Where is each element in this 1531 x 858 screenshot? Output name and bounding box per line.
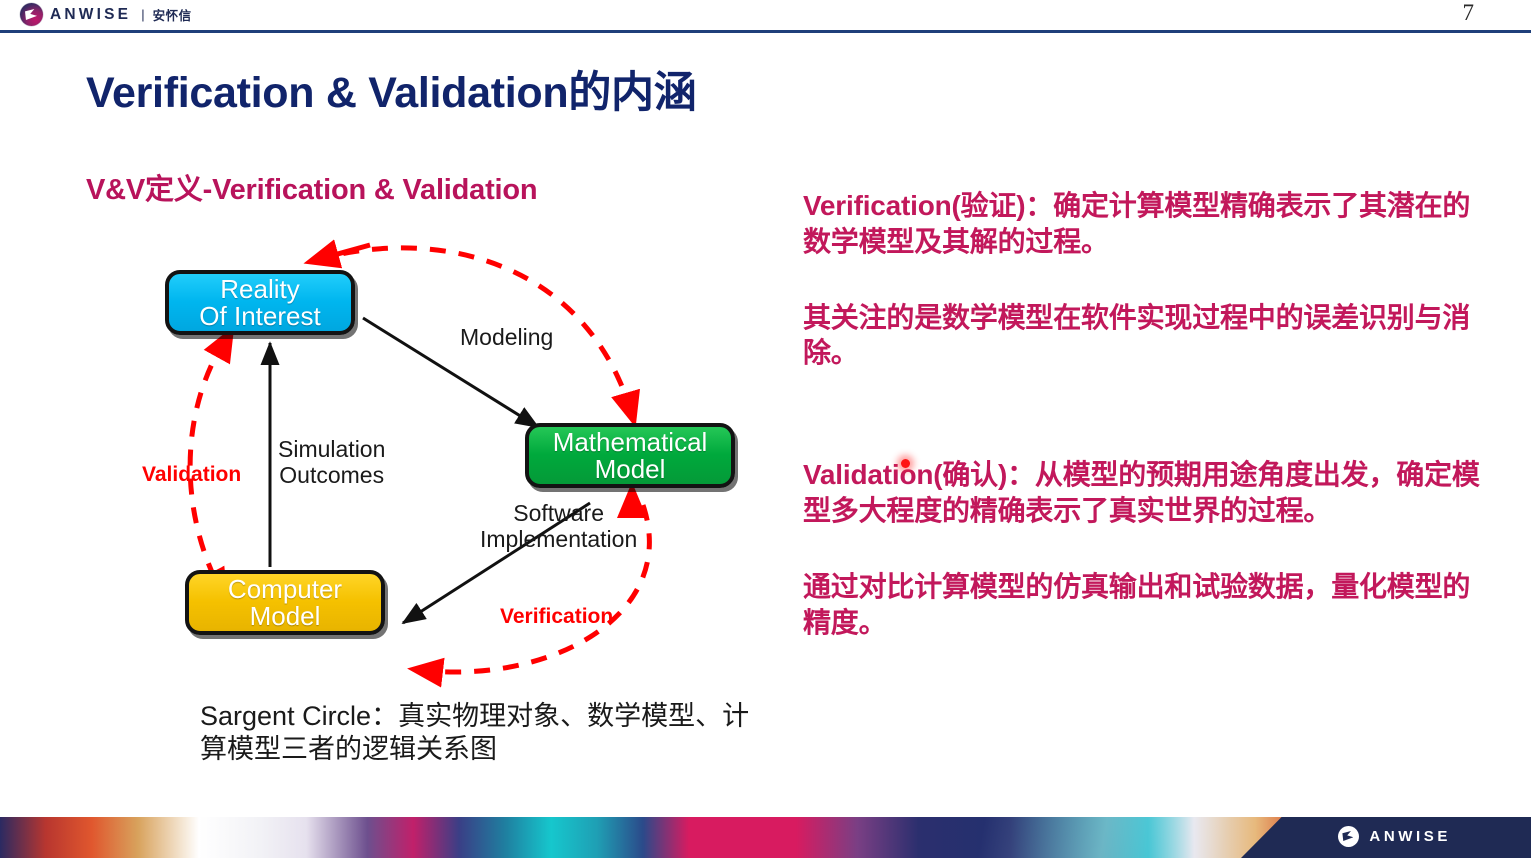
edge-label-modeling: Modeling [460,325,553,351]
anwise-logo-icon-footer [1338,826,1359,847]
node-math-line1: Mathematical [553,429,708,456]
definition-verification-note: 其关注的是数学模型在软件实现过程中的误差识别与消除。 [803,300,1483,372]
footer-brand-name: ANWISE [1369,828,1451,845]
edge-label-validation: Validation [142,463,241,487]
node-computer-line2: Model [250,603,321,630]
node-reality-line1: Reality [220,276,299,303]
section-subtitle: V&V定义-Verification & Validation [86,166,537,208]
anwise-logo-icon [20,3,43,26]
edge-label-software-implementation: Software Implementation [480,501,637,553]
definition-validation: Validation(确认)：从模型的预期用途角度出发，确定模型多大程度的精确表… [803,457,1483,529]
node-math-line2: Model [595,456,666,483]
slide-header: ANWISE | 安怀信 7 [0,0,1531,30]
node-mathematical-model: Mathematical Model [525,423,735,488]
brand-logo: ANWISE | 安怀信 [20,3,192,26]
page-number: 7 [1463,0,1475,26]
edge-label-software-line2: Implementation [480,527,637,553]
node-computer-line1: Computer [228,576,342,603]
footer-brand-logo: ANWISE [1338,826,1451,847]
edge-label-simulation-outcomes: Simulation Outcomes [278,437,385,489]
edge-label-software-line1: Software [480,501,637,527]
definitions-panel: Verification(验证)：确定计算模型精确表示了其潜在的数学模型及其解的… [803,188,1483,667]
brand-name: ANWISE [50,7,131,23]
edge-label-verification: Verification [500,605,613,629]
edge-label-simulation-line2: Outcomes [278,463,385,489]
brand-name-cn: 安怀信 [153,5,192,24]
node-reality-of-interest: Reality Of Interest [165,270,355,335]
slide-root: ANWISE | 安怀信 7 Verification & Validation… [0,0,1531,858]
definition-validation-note: 通过对比计算模型的仿真输出和试验数据，量化模型的精度。 [803,569,1483,641]
slide-footer: ANWISE [0,817,1531,858]
header-divider [0,30,1531,33]
sargent-circle-diagram: Reality Of Interest Mathematical Model C… [120,215,780,695]
diagram-caption: Sargent Circle：真实物理对象、数学模型、计算模型三者的逻辑关系图 [200,700,760,766]
node-computer-model: Computer Model [185,570,385,635]
node-reality-line2: Of Interest [199,303,320,330]
definition-verification: Verification(验证)：确定计算模型精确表示了其潜在的数学模型及其解的… [803,188,1483,260]
page-title: Verification & Validation的内涵 [86,58,696,120]
laser-pointer-dot [901,459,910,468]
brand-separator: | [141,7,144,22]
edge-label-simulation-line1: Simulation [278,437,385,463]
